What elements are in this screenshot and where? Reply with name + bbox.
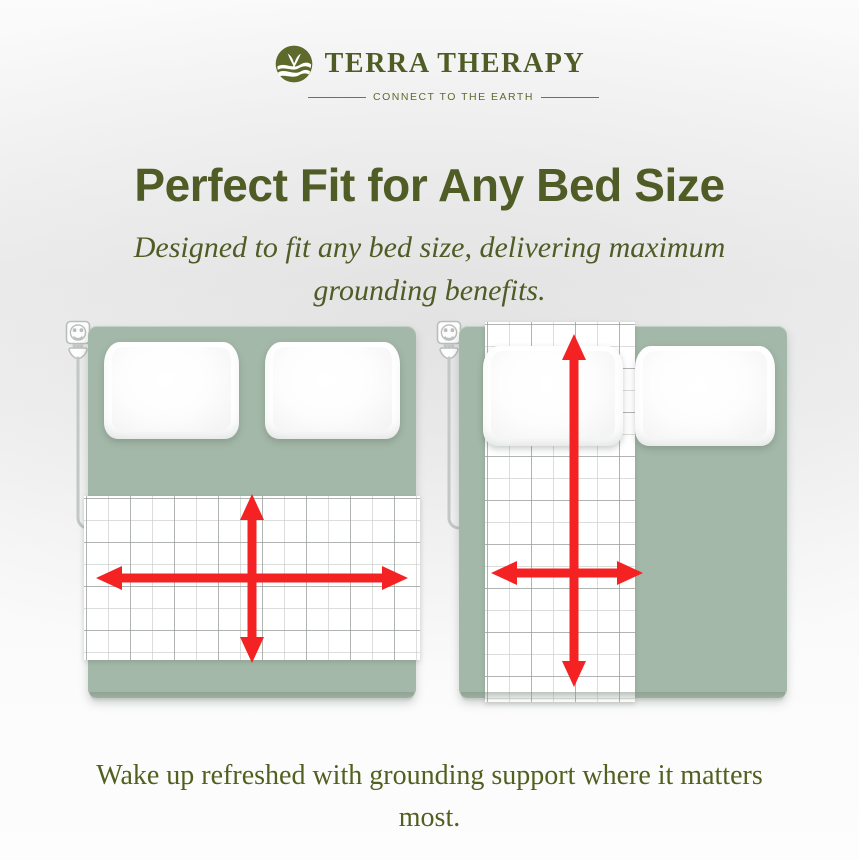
- bed-illustrations: [0, 318, 859, 708]
- footer-caption: Wake up refreshed with grounding support…: [70, 755, 789, 839]
- pillow-right: [265, 342, 400, 439]
- brand-header: TERRA THERAPY CONNECT TO THE EARTH: [0, 44, 859, 103]
- bed-vertical-sheet: [429, 318, 799, 708]
- earth-sprout-circle-icon: [274, 44, 314, 84]
- page-subtitle: Designed to fit any bed size, delivering…: [88, 227, 771, 312]
- bed-horizontal-sheet: [58, 318, 428, 708]
- brand-tagline-row: CONNECT TO THE EARTH: [308, 91, 599, 103]
- tagline-rule-left: [308, 97, 366, 98]
- brand-tagline: CONNECT TO THE EARTH: [373, 91, 534, 103]
- brand-row: TERRA THERAPY: [274, 44, 586, 84]
- grounding-sheet-grid: [84, 496, 420, 660]
- pillow-left-2: [483, 346, 623, 446]
- mattress-2: [459, 326, 787, 698]
- infographic-canvas: TERRA THERAPY CONNECT TO THE EARTH Perfe…: [0, 0, 859, 860]
- tagline-rule-right: [541, 97, 599, 98]
- brand-name: TERRA THERAPY: [325, 50, 586, 78]
- pillow-left: [104, 342, 239, 439]
- pillow-right-2: [635, 346, 775, 446]
- mattress: [88, 326, 416, 698]
- page-title: Perfect Fit for Any Bed Size: [0, 161, 859, 209]
